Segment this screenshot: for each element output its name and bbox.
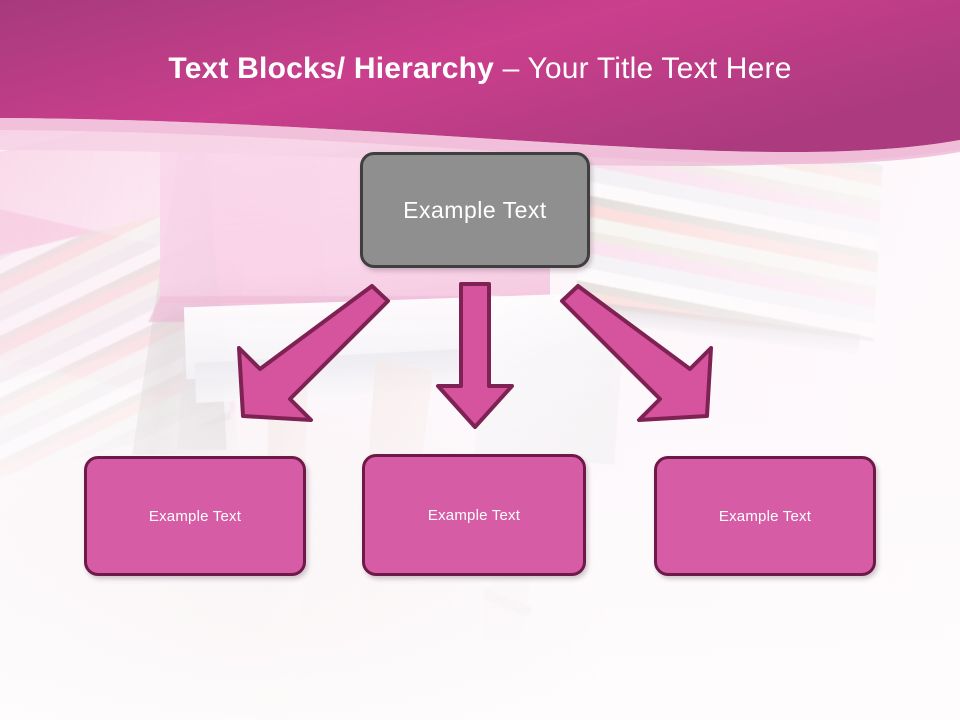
hierarchy-child-node-3[interactable]: Example Text	[654, 456, 876, 576]
hierarchy-child-label-3: Example Text	[719, 508, 811, 525]
slide-canvas: Text Blocks/ Hierarchy – Your Title Text…	[0, 0, 960, 720]
hierarchy-child-label-1: Example Text	[149, 508, 241, 525]
hierarchy-child-node-1[interactable]: Example Text	[84, 456, 306, 576]
page-title-regular: – Your Title Text Here	[494, 52, 792, 85]
hierarchy-child-label-2: Example Text	[428, 507, 520, 524]
page-title: Text Blocks/ Hierarchy – Your Title Text…	[0, 52, 960, 86]
hierarchy-root-node[interactable]: Example Text	[360, 152, 590, 268]
hierarchy-root-label: Example Text	[403, 197, 547, 224]
hierarchy-child-node-2[interactable]: Example Text	[362, 454, 586, 576]
page-title-bold: Text Blocks/ Hierarchy	[168, 52, 494, 85]
